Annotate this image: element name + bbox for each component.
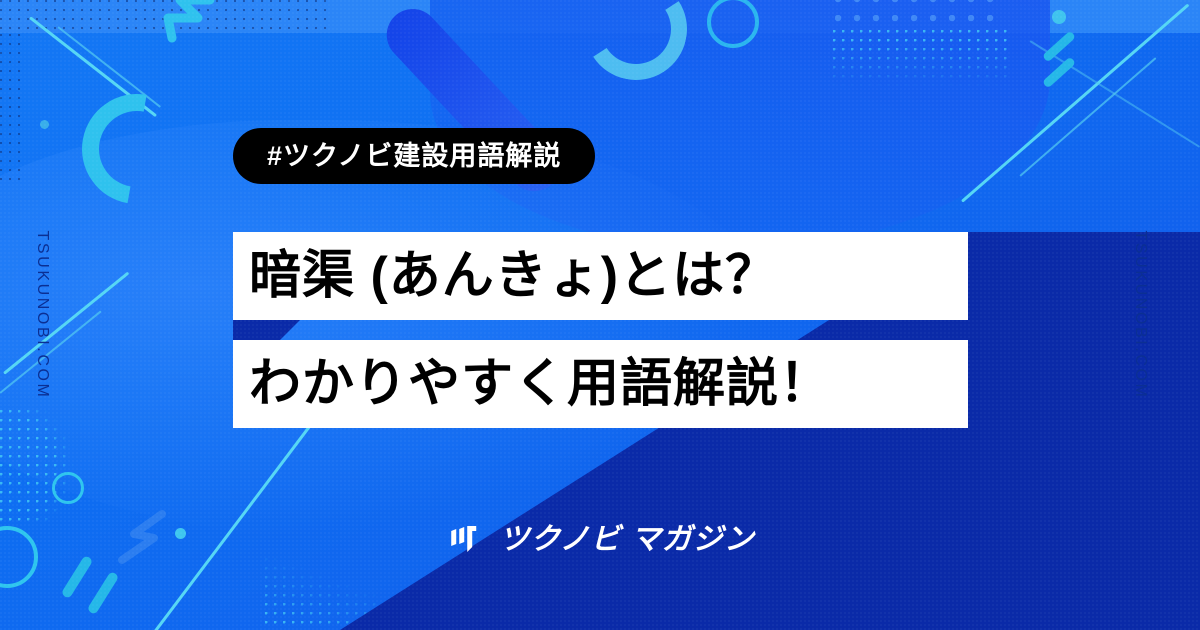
title-band-line1: 暗渠 (あんきょ)とは？ xyxy=(233,232,968,320)
tsukunobi-mark-icon xyxy=(445,525,485,555)
og-image-canvas: TSUKUNOBI.COM TSUKUNOBI.COM #ツクノビ建設用語解説 … xyxy=(0,0,1200,630)
side-label-left: TSUKUNOBI.COM xyxy=(33,231,51,400)
title-text-line1: 暗渠 (あんきょ)とは？ xyxy=(249,250,778,302)
footer-logo[interactable]: ツクノビ マガジン xyxy=(445,525,755,555)
category-tag-pill[interactable]: #ツクノビ建設用語解説 xyxy=(233,128,595,184)
footer-logo-text: ツクノビ マガジン xyxy=(499,525,755,555)
title-text-line2: わかりやすく用語解説！ xyxy=(249,358,832,410)
side-label-right: TSUKUNOBI.COM xyxy=(1131,231,1149,400)
title-band-line2: わかりやすく用語解説！ xyxy=(233,340,968,428)
category-tag-label: #ツクノビ建設用語解説 xyxy=(267,143,561,170)
